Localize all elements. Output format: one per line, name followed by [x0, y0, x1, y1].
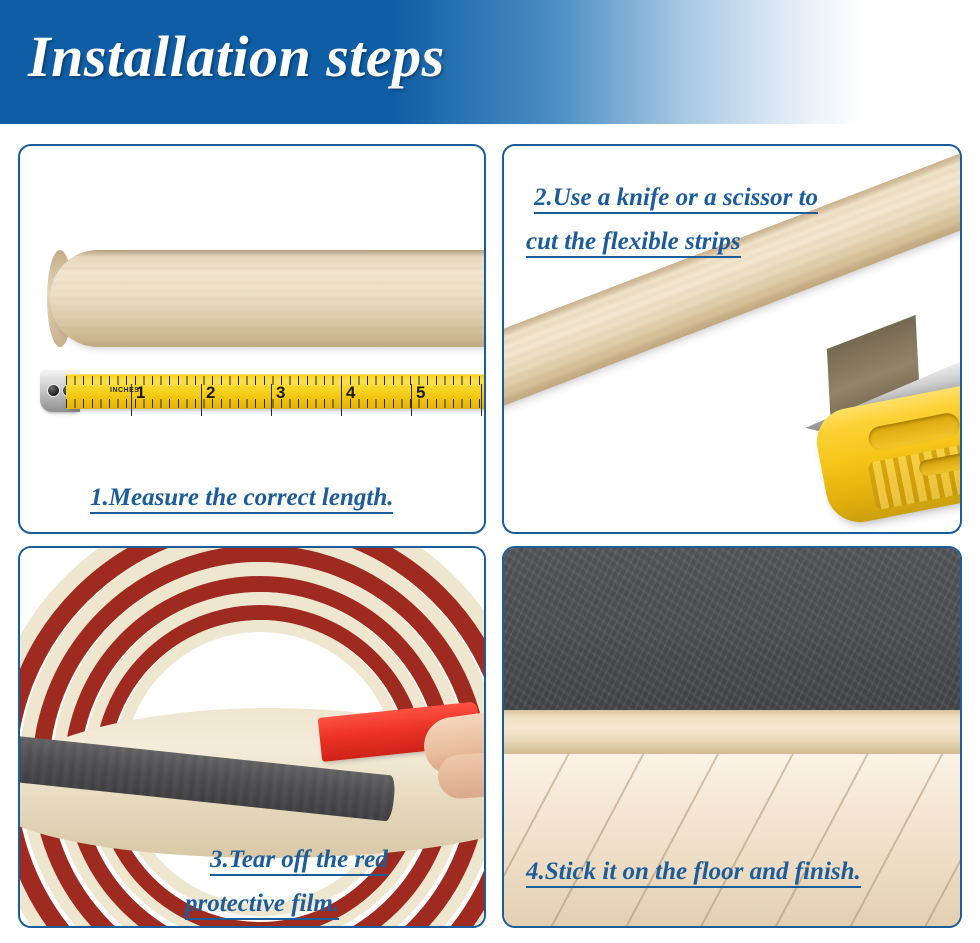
step-3-caption-line2: protective film. — [185, 882, 339, 926]
step-1-image: INCHES 1 2 3 4 5 6 — [20, 146, 484, 532]
rivet-icon — [47, 384, 60, 397]
step-panel-4: 4.Stick it on the floor and finish. — [502, 546, 962, 928]
step-panel-1: INCHES 1 2 3 4 5 6 — [18, 144, 486, 534]
installation-steps-infographic: Installation steps INCHES 1 — [0, 0, 980, 943]
tape-measure-blade: INCHES 1 2 3 4 5 6 — [66, 374, 486, 409]
step-4-caption-text: 4.Stick it on the floor and finish. — [526, 858, 861, 888]
step-3-caption-text-2: protective film. — [185, 890, 339, 920]
wood-plank-floor — [504, 754, 960, 926]
tape-number: 5 — [416, 383, 425, 402]
tape-number: 3 — [276, 383, 285, 402]
grey-wall-surface — [504, 548, 960, 710]
step-4-caption: 4.Stick it on the floor and finish. — [526, 850, 861, 894]
step-2-caption-text-1: 2.Use a knife or a scissor to — [534, 184, 818, 214]
step-2-caption-line2: cut the flexible strips — [526, 220, 741, 264]
step-1-caption: 1.Measure the correct length. — [90, 476, 393, 520]
tape-number-row: 1 2 3 4 5 6 — [66, 383, 486, 403]
tape-number: 4 — [346, 383, 355, 402]
step-3-caption-text-1: 3.Tear off the red — [210, 846, 388, 876]
step-panel-3: 3.Tear off the red protective film. — [18, 546, 486, 928]
knife-thumb-slot — [867, 411, 962, 452]
step-2-caption-text-2: cut the flexible strips — [526, 228, 741, 258]
step-2-caption-line1: 2.Use a knife or a scissor to — [534, 176, 818, 220]
tape-number: 2 — [206, 383, 215, 402]
step-3-caption-line1: 3.Tear off the red — [210, 838, 388, 882]
installed-transition-strip — [504, 710, 960, 754]
tape-number: 1 — [136, 383, 145, 402]
step-1-caption-text: 1.Measure the correct length. — [90, 484, 393, 514]
steps-grid: INCHES 1 2 3 4 5 6 — [18, 144, 962, 928]
wood-molding-strip — [50, 250, 486, 347]
header-banner: Installation steps — [0, 0, 980, 124]
page-title: Installation steps — [28, 22, 445, 92]
step-panel-2: 2.Use a knife or a scissor to cut the fl… — [502, 144, 962, 534]
